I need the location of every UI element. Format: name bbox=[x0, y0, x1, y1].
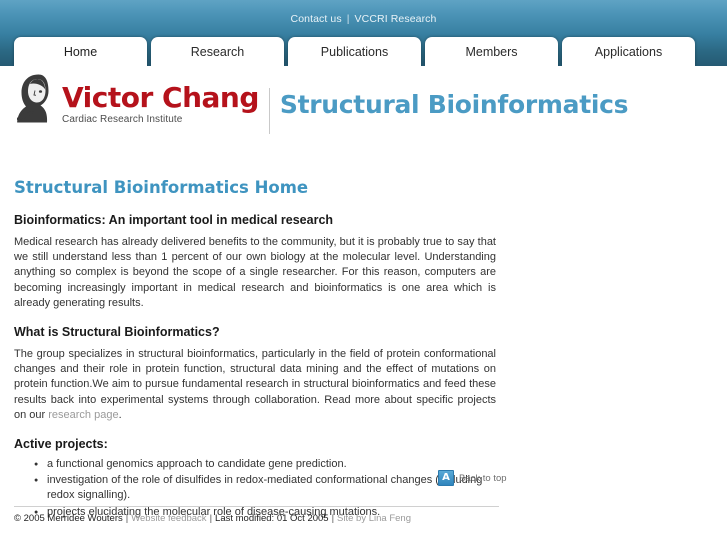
section-body-what-is-post: . bbox=[119, 409, 122, 421]
contact-us-link[interactable]: Contact us bbox=[291, 13, 342, 25]
footer-site-by: Site by Lina Feng bbox=[337, 513, 411, 524]
footer-separator-1: | bbox=[123, 513, 131, 524]
footer-separator-3: | bbox=[329, 513, 337, 524]
section-heading-bioinformatics: Bioinformatics: An important tool in med… bbox=[14, 213, 496, 227]
footer-separator-2: | bbox=[207, 513, 215, 524]
back-to-top-label: Back to top bbox=[459, 473, 507, 484]
research-page-link[interactable]: research page bbox=[48, 409, 118, 421]
vccri-research-link[interactable]: VCCRI Research bbox=[355, 13, 437, 25]
institute-subtitle: Cardiac Research Institute bbox=[62, 114, 259, 125]
back-to-top-icon: A bbox=[438, 470, 454, 486]
tab-members-label: Members bbox=[465, 45, 517, 59]
list-item: a functional genomics approach to candid… bbox=[34, 457, 496, 472]
active-projects-heading: Active projects: bbox=[14, 437, 496, 451]
victor-chang-head-icon bbox=[14, 72, 60, 124]
institute-name: Victor Chang bbox=[62, 84, 259, 112]
site-footer: © 2005 Merridee Wouters|Website feedback… bbox=[14, 513, 411, 524]
site-header-band: Contact us|VCCRI Research Home Research … bbox=[0, 0, 727, 66]
tab-home[interactable]: Home bbox=[14, 37, 147, 66]
utility-separator: | bbox=[342, 13, 355, 25]
website-feedback-link[interactable]: Website feedback bbox=[131, 513, 206, 524]
footer-last-modified: Last modified: 01 Oct 2005 bbox=[215, 513, 329, 524]
tab-home-label: Home bbox=[64, 45, 97, 59]
footer-copyright: © 2005 Merridee Wouters bbox=[14, 513, 123, 524]
tab-research[interactable]: Research bbox=[151, 37, 284, 66]
primary-nav-tabs: Home Research Publications Members Appli… bbox=[14, 37, 695, 66]
logo-divider bbox=[269, 88, 270, 134]
main-content: Structural Bioinformatics Home Bioinform… bbox=[14, 178, 496, 521]
site-title: Structural Bioinformatics bbox=[280, 90, 628, 119]
section-heading-what-is: What is Structural Bioinformatics? bbox=[14, 325, 496, 339]
list-item: investigation of the role of disulfides … bbox=[34, 473, 496, 503]
tab-applications[interactable]: Applications bbox=[562, 37, 695, 66]
footer-divider bbox=[14, 506, 499, 507]
tab-research-label: Research bbox=[191, 45, 245, 59]
section-body-what-is: The group specializes in structural bioi… bbox=[14, 347, 496, 423]
institute-wordmark: Victor Chang Cardiac Research Institute bbox=[62, 84, 259, 125]
back-to-top-link[interactable]: A Back to top bbox=[438, 470, 507, 486]
tab-publications[interactable]: Publications bbox=[288, 37, 421, 66]
branding-band: Victor Chang Cardiac Research Institute … bbox=[0, 66, 727, 144]
page-title: Structural Bioinformatics Home bbox=[14, 178, 496, 197]
site-logo[interactable]: Victor Chang Cardiac Research Institute … bbox=[14, 70, 628, 134]
tab-members[interactable]: Members bbox=[425, 37, 558, 66]
active-projects-list: a functional genomics approach to candid… bbox=[14, 457, 496, 520]
tab-applications-label: Applications bbox=[595, 45, 662, 59]
section-body-bioinformatics: Medical research has already delivered b… bbox=[14, 235, 496, 311]
tab-publications-label: Publications bbox=[321, 45, 388, 59]
utility-link-bar: Contact us|VCCRI Research bbox=[0, 13, 727, 25]
